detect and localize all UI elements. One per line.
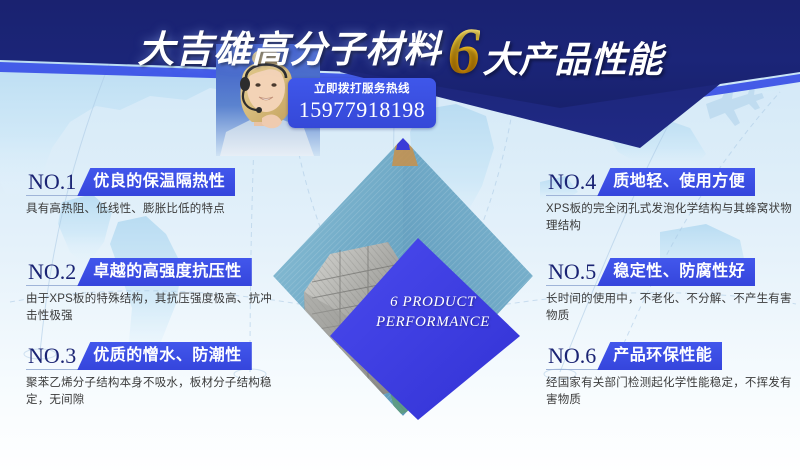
feature-title-badge: 产品环保性能 bbox=[597, 342, 722, 370]
feature-description: 聚苯乙烯分子结构本身不吸水，板材分子结构稳定，无间隙 bbox=[26, 375, 278, 409]
center-diamond-artwork bbox=[268, 132, 538, 422]
hotline-number: 15977918198 bbox=[288, 97, 436, 123]
feature-number: NO.4 bbox=[546, 168, 599, 196]
feature-item-4: NO.4 质地轻、使用方便 XPS板的完全闭孔式发泡化学结构与其蜂窝状物理结构 bbox=[546, 166, 800, 235]
feature-item-6: NO.6 产品环保性能 经国家有关部门检测起化学性能稳定，不挥发有害物质 bbox=[546, 340, 800, 409]
feature-header: NO.4 质地轻、使用方便 bbox=[546, 166, 800, 196]
feature-item-3: NO.3 优质的憎水、防潮性 聚苯乙烯分子结构本身不吸水，板材分子结构稳定，无间… bbox=[26, 340, 288, 409]
feature-number: NO.5 bbox=[546, 258, 599, 286]
feature-item-1: NO.1 优良的保温隔热性 具有高热阻、低线性、膨胀比低的特点 bbox=[26, 166, 288, 218]
feature-number: NO.1 bbox=[26, 168, 79, 196]
feature-description: 长时间的使用中，不老化、不分解、不产生有害物质 bbox=[546, 291, 798, 325]
feature-header: NO.5 稳定性、防腐性好 bbox=[546, 256, 800, 286]
feature-header: NO.6 产品环保性能 bbox=[546, 340, 800, 370]
feature-title-badge: 卓越的高强度抗压性 bbox=[77, 258, 252, 286]
feature-title-badge: 质地轻、使用方便 bbox=[597, 168, 755, 196]
feature-description: 经国家有关部门检测起化学性能稳定，不挥发有害物质 bbox=[546, 375, 798, 409]
feature-description: 具有高热阻、低线性、膨胀比低的特点 bbox=[26, 201, 278, 218]
feature-title-badge: 优良的保温隔热性 bbox=[77, 168, 235, 196]
feature-title-badge: 优质的憎水、防潮性 bbox=[77, 342, 252, 370]
promo-banner: 6 PRODUCT PERFORMANCE 大吉雄高分子材料 6 大产品性能 bbox=[0, 0, 800, 474]
feature-number: NO.6 bbox=[546, 342, 599, 370]
feature-header: NO.3 优质的憎水、防潮性 bbox=[26, 340, 288, 370]
feature-header: NO.2 卓越的高强度抗压性 bbox=[26, 256, 288, 286]
hotline-label: 立即拨打服务热线 bbox=[288, 81, 436, 97]
hotline-box[interactable]: 立即拨打服务热线 15977918198 bbox=[288, 78, 436, 128]
feature-item-5: NO.5 稳定性、防腐性好 长时间的使用中，不老化、不分解、不产生有害物质 bbox=[546, 256, 800, 325]
feature-header: NO.1 优良的保温隔热性 bbox=[26, 166, 288, 196]
feature-number: NO.2 bbox=[26, 258, 79, 286]
feature-title-badge: 稳定性、防腐性好 bbox=[597, 258, 755, 286]
feature-description: XPS板的完全闭孔式发泡化学结构与其蜂窝状物理结构 bbox=[546, 201, 798, 235]
feature-item-2: NO.2 卓越的高强度抗压性 由于XPS板的特殊结构，其抗压强度极高、抗冲击性极… bbox=[26, 256, 288, 325]
feature-number: NO.3 bbox=[26, 342, 79, 370]
feature-description: 由于XPS板的特殊结构，其抗压强度极高、抗冲击性极强 bbox=[26, 291, 278, 325]
